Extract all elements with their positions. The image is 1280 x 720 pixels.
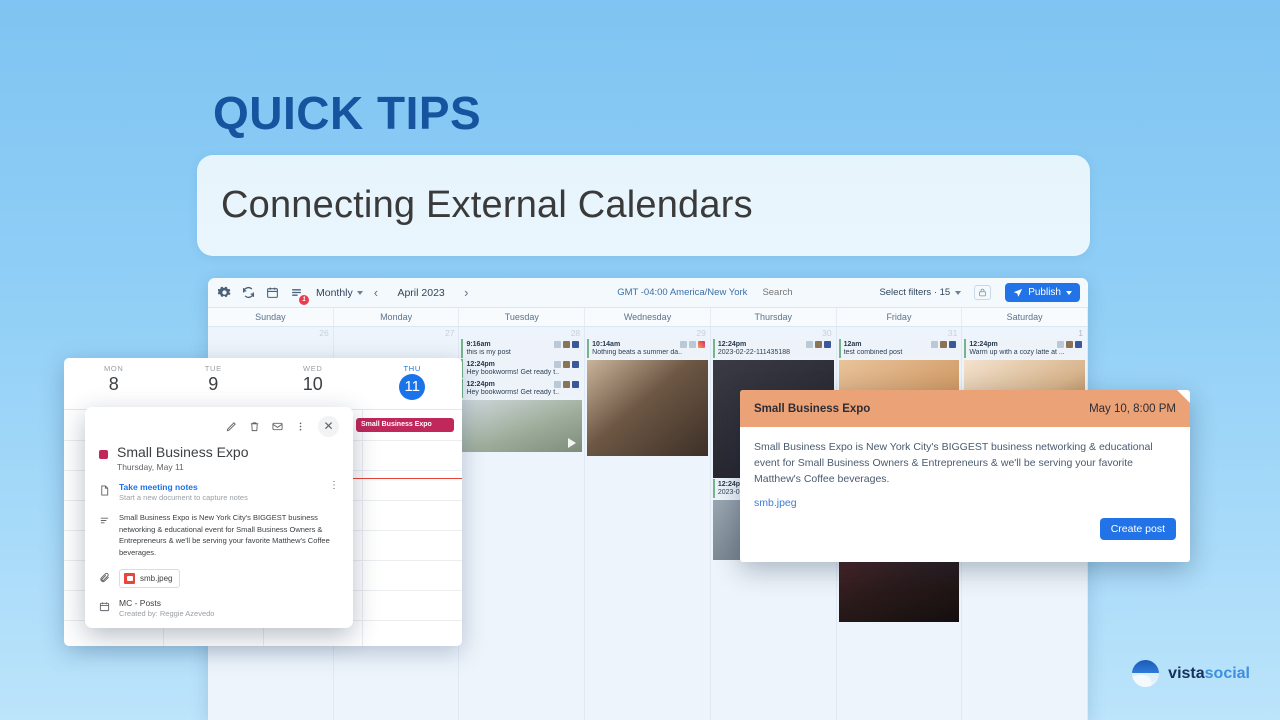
google-day-number: 10 bbox=[263, 374, 363, 395]
calendar-post-item[interactable]: 12:24pm 2023-02-22-111435188 bbox=[713, 339, 834, 358]
instagram-icon bbox=[698, 341, 705, 348]
calendar-post-item[interactable]: 12am test combined post bbox=[839, 339, 960, 358]
document-icon bbox=[99, 483, 110, 502]
eyebrow-heading: QUICK TIPS bbox=[213, 86, 481, 140]
modal-title: Small Business Expo bbox=[754, 403, 870, 415]
chevron-down-icon bbox=[357, 291, 363, 295]
day-number: 31 bbox=[837, 327, 962, 338]
day-number: 27 bbox=[334, 327, 459, 338]
post-text: this is my post bbox=[466, 349, 579, 356]
google-event-popup: ✕ Small Business Expo Thursday, May 11 T… bbox=[85, 407, 353, 628]
facebook-icon bbox=[949, 341, 956, 348]
take-meeting-notes-sub: Start a new document to capture notes bbox=[119, 493, 320, 502]
facebook-icon bbox=[572, 361, 579, 368]
more-icon[interactable]: ⋮ bbox=[329, 482, 339, 502]
google-event-chip[interactable]: Small Business Expo bbox=[356, 418, 454, 432]
calendar-icon bbox=[99, 599, 110, 618]
vista-social-logo: vistasocial bbox=[1132, 660, 1250, 687]
day-number: 28 bbox=[459, 327, 584, 338]
image-icon bbox=[680, 341, 687, 348]
modal-attachment-link[interactable]: smb.jpeg bbox=[754, 497, 1176, 509]
link-icon bbox=[554, 341, 561, 348]
day-number: 1 bbox=[962, 327, 1087, 338]
title-card: Connecting External Calendars bbox=[197, 155, 1090, 256]
sync-icon[interactable] bbox=[240, 284, 257, 301]
calendar-post-item[interactable]: 12:24pm Warm up with a cozy latte at ... bbox=[964, 339, 1085, 358]
avatar bbox=[563, 361, 570, 368]
logo-wordmark: vistasocial bbox=[1168, 665, 1250, 683]
clock-icon bbox=[1057, 341, 1064, 348]
next-period-button[interactable]: › bbox=[460, 285, 472, 300]
weekday-saturday: Saturday bbox=[962, 308, 1088, 326]
filters-select[interactable]: Select filters · 15 bbox=[879, 287, 961, 298]
logo-text-primary: vista bbox=[1168, 665, 1204, 682]
google-day-mon[interactable]: MON 8 bbox=[64, 358, 164, 409]
google-day-number-today: 11 bbox=[399, 374, 425, 400]
logo-text-secondary: social bbox=[1205, 665, 1250, 682]
publish-button[interactable]: Publish bbox=[1005, 283, 1080, 302]
weekday-monday: Monday bbox=[334, 308, 460, 326]
logo-mark-icon bbox=[1132, 660, 1159, 687]
post-time: 9:16am bbox=[466, 341, 552, 348]
google-dow: MON bbox=[64, 364, 164, 373]
publish-label: Publish bbox=[1028, 287, 1061, 298]
facebook-icon bbox=[572, 381, 579, 388]
avatar bbox=[563, 341, 570, 348]
calendar-owner-row: MC - Posts Created by: Reggie Azevedo bbox=[99, 598, 339, 618]
timezone-label[interactable]: GMT -04:00 America/New York bbox=[617, 287, 747, 298]
weekday-friday: Friday bbox=[837, 308, 963, 326]
calendar-toolbar: 1 Monthly ‹ April 2023 › GMT -04:00 Amer… bbox=[208, 278, 1088, 308]
post-time: 12am bbox=[844, 341, 930, 348]
calendar-post-item[interactable]: 9:16am this is my post bbox=[461, 339, 582, 358]
popup-action-bar: ✕ bbox=[99, 415, 339, 437]
popup-title-row: Small Business Expo Thursday, May 11 bbox=[99, 444, 339, 472]
image-icon bbox=[554, 381, 561, 388]
event-description: Small Business Expo is New York City's B… bbox=[119, 512, 339, 559]
modal-footer: Create post bbox=[740, 509, 1190, 540]
calendar-post-item[interactable]: 10:14am Nothing beats a summer da.. bbox=[587, 339, 708, 358]
edit-icon[interactable] bbox=[226, 421, 237, 432]
image-file-icon bbox=[124, 573, 135, 584]
vista-social-event-modal: Small Business Expo May 10, 8:00 PM Smal… bbox=[740, 390, 1190, 562]
facebook-icon bbox=[1075, 341, 1082, 348]
post-text: 2023-02-22-111435188 bbox=[718, 349, 831, 356]
avatar bbox=[940, 341, 947, 348]
filters-label: Select filters · 15 bbox=[879, 287, 950, 298]
google-day-number: 9 bbox=[164, 374, 264, 395]
post-time: 10:14am bbox=[592, 341, 678, 348]
chevron-down-icon bbox=[1066, 291, 1072, 295]
attachment-chip[interactable]: smb.jpeg bbox=[119, 569, 180, 588]
weekday-sunday: Sunday bbox=[208, 308, 334, 326]
modal-header: Small Business Expo May 10, 8:00 PM bbox=[740, 390, 1190, 427]
weekday-header: Sunday Monday Tuesday Wednesday Thursday… bbox=[208, 308, 1088, 327]
google-day-number: 8 bbox=[64, 374, 164, 395]
google-dow: THU bbox=[363, 364, 463, 373]
weekday-tuesday: Tuesday bbox=[459, 308, 585, 326]
day-number: 30 bbox=[711, 327, 836, 338]
post-text: test combined post bbox=[844, 349, 957, 356]
gear-icon[interactable] bbox=[216, 284, 233, 301]
post-text: Warm up with a cozy latte at ... bbox=[969, 349, 1082, 356]
attachment-row: smb.jpeg bbox=[99, 569, 339, 588]
search-input[interactable] bbox=[754, 287, 866, 298]
calendar-icon[interactable] bbox=[264, 284, 281, 301]
event-date: Thursday, May 11 bbox=[117, 462, 249, 472]
take-meeting-notes-link[interactable]: Take meeting notes bbox=[119, 482, 320, 492]
calendar-post-item[interactable]: 12:24pm Hey bookworms! Get ready t.. bbox=[461, 359, 582, 378]
day-number: 26 bbox=[208, 327, 333, 338]
post-thumbnail[interactable] bbox=[461, 400, 582, 452]
post-text: Hey bookworms! Get ready t.. bbox=[466, 389, 579, 396]
prev-period-button[interactable]: ‹ bbox=[370, 285, 382, 300]
create-post-button[interactable]: Create post bbox=[1100, 518, 1176, 540]
description-row: Small Business Expo is New York City's B… bbox=[99, 512, 339, 559]
page-title: Connecting External Calendars bbox=[197, 184, 753, 227]
google-day-thu[interactable]: THU 11 bbox=[363, 358, 463, 409]
modal-description: Small Business Expo is New York City's B… bbox=[754, 440, 1176, 488]
avatar bbox=[563, 381, 570, 388]
post-text: Nothing beats a summer da.. bbox=[592, 349, 705, 356]
avatar bbox=[1066, 341, 1073, 348]
post-time: 12:24pm bbox=[969, 341, 1055, 348]
post-text: Hey bookworms! Get ready t.. bbox=[466, 369, 579, 376]
weekday-wednesday: Wednesday bbox=[585, 308, 711, 326]
calendar-name: MC - Posts bbox=[119, 598, 214, 608]
modal-date: May 10, 8:00 PM bbox=[1089, 403, 1176, 415]
more-icon[interactable] bbox=[295, 421, 306, 432]
post-time: 12:24pm bbox=[466, 381, 552, 388]
event-title: Small Business Expo bbox=[117, 444, 249, 460]
google-dow: TUE bbox=[164, 364, 264, 373]
calendar-post-item[interactable]: 12:24pm Hey bookworms! Get ready t.. bbox=[461, 379, 582, 398]
meeting-notes-row: Take meeting notes Start a new document … bbox=[99, 482, 339, 502]
view-select-label: Monthly bbox=[316, 287, 353, 299]
email-icon[interactable] bbox=[272, 421, 283, 432]
attachment-icon bbox=[99, 570, 110, 588]
google-week-header: MON 8 TUE 9 WED 10 THU 11 bbox=[64, 358, 462, 410]
play-icon bbox=[568, 438, 576, 448]
google-day-wed[interactable]: WED 10 bbox=[263, 358, 363, 409]
facebook-icon bbox=[824, 341, 831, 348]
day-number: 29 bbox=[585, 327, 710, 338]
image-icon bbox=[806, 341, 813, 348]
google-day-tue[interactable]: TUE 9 bbox=[164, 358, 264, 409]
lock-icon[interactable] bbox=[974, 285, 991, 300]
created-by: Created by: Reggie Azevedo bbox=[119, 609, 214, 618]
facebook-icon bbox=[572, 341, 579, 348]
post-time: 12:24pm bbox=[718, 341, 804, 348]
weekday-thursday: Thursday bbox=[711, 308, 837, 326]
google-dow: WED bbox=[263, 364, 363, 373]
description-icon bbox=[99, 513, 110, 559]
modal-body: Small Business Expo is New York City's B… bbox=[740, 427, 1190, 509]
close-icon[interactable]: ✕ bbox=[318, 416, 339, 437]
post-time: 12:24pm bbox=[466, 361, 552, 368]
avatar bbox=[815, 341, 822, 348]
calendar-day-cell[interactable]: 28 9:16am this is my post 12:24pm Hey bo… bbox=[459, 327, 585, 720]
image-icon bbox=[931, 341, 938, 348]
current-period-label: April 2023 bbox=[389, 287, 453, 299]
delete-icon[interactable] bbox=[249, 421, 260, 432]
list-icon[interactable]: 1 bbox=[288, 284, 305, 301]
image-icon bbox=[554, 361, 561, 368]
post-thumbnail[interactable] bbox=[587, 360, 708, 456]
view-select[interactable]: Monthly bbox=[316, 287, 363, 299]
attachment-name: smb.jpeg bbox=[140, 574, 172, 583]
list-badge: 1 bbox=[299, 295, 309, 305]
event-color-swatch bbox=[99, 450, 108, 459]
chevron-down-icon bbox=[955, 291, 961, 295]
pin-icon bbox=[689, 341, 696, 348]
calendar-day-cell[interactable]: 29 10:14am Nothing beats a summer da.. bbox=[585, 327, 711, 720]
